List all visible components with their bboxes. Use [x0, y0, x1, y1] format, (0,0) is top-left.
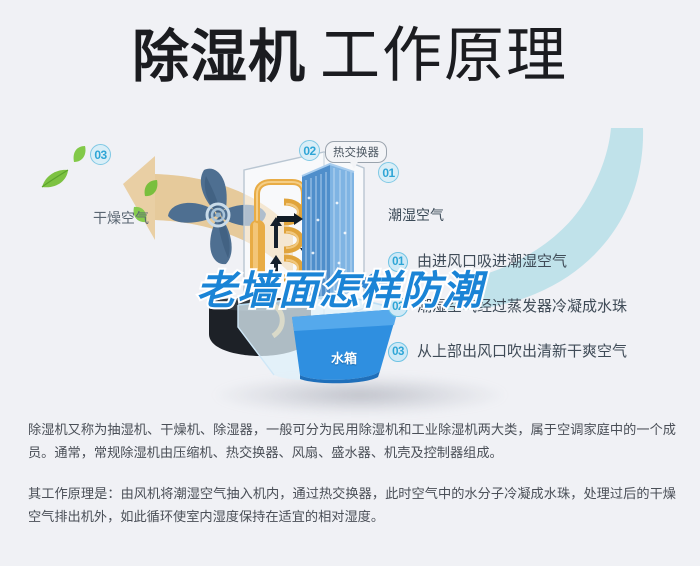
page-title-secondary: 工作原理	[320, 22, 568, 89]
watermark-text: 老墙面怎样防潮	[196, 269, 483, 313]
poster-canvas: 除湿机工作原理	[0, 0, 700, 566]
step-text: 从上部出风口吹出清新干爽空气	[417, 340, 627, 361]
page-title-primary: 除湿机	[132, 25, 306, 89]
badge-01: 01	[378, 162, 399, 183]
watermark-overlay: 老墙面怎样防潮	[196, 258, 483, 316]
airflow-arrow-icon	[277, 212, 303, 224]
leaf-icon	[71, 145, 88, 169]
label-water-tank: 水箱	[331, 348, 357, 367]
label-humid-air: 潮湿空气	[388, 205, 444, 225]
badge-03: 03	[90, 144, 111, 165]
leaf-icon	[40, 168, 70, 195]
description-paragraph-2: 其工作原理是：由风机将潮湿空气抽入机内，通过热交换器，此时空气中的水分子冷凝成水…	[28, 482, 676, 528]
callout-tail	[348, 158, 360, 169]
page-title: 除湿机工作原理	[0, 26, 700, 86]
description-paragraph-1: 除湿机又称为抽湿机、干燥机、除湿器，一般可分为民用除湿机和工业除湿机两大类，属于…	[28, 418, 676, 464]
badge-02: 02	[299, 140, 320, 161]
list-item: 03 从上部出风口吹出清新干爽空气	[388, 338, 688, 370]
leaf-icon	[142, 178, 160, 203]
step-badge: 03	[388, 342, 408, 362]
label-dry-air: 干燥空气	[93, 208, 149, 228]
